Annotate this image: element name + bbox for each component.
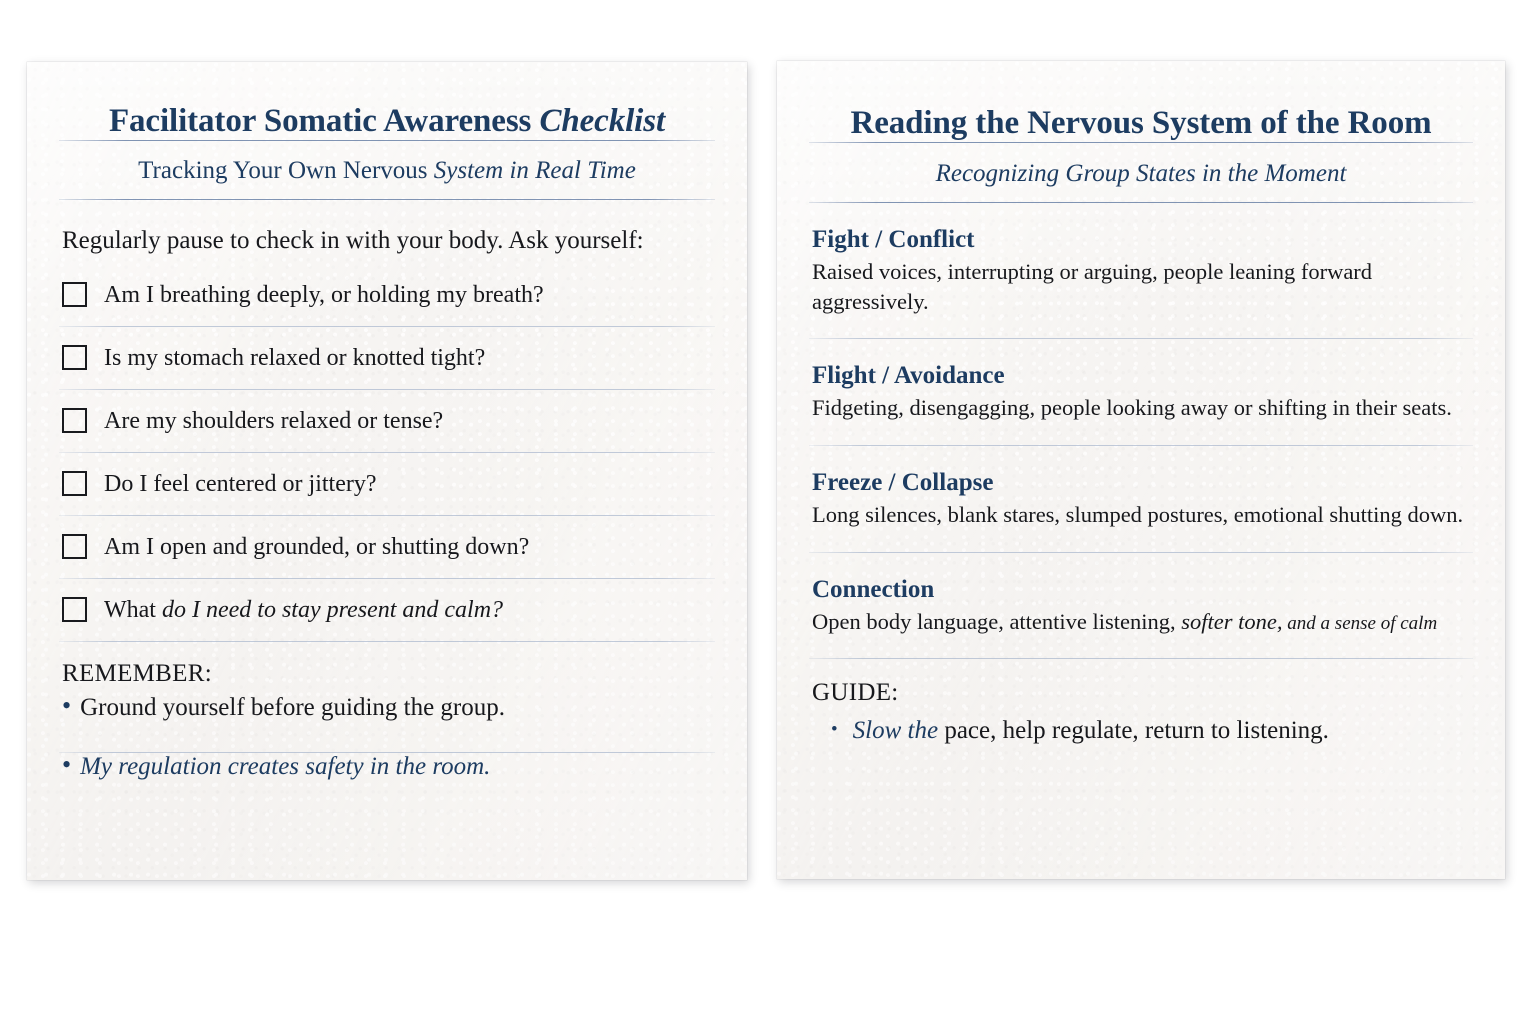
left-card-title: Facilitator Somatic Awareness Checklist [59,62,715,140]
checkbox-icon[interactable] [62,597,87,622]
page-canvas: Facilitator Somatic Awareness Checklist … [0,0,1536,1024]
state-description: Raised voices, interrupting or arguing, … [812,257,1473,338]
remember-item: • Ground yourself before guiding the gro… [59,694,715,752]
card-facilitator-somatic-awareness-checklist: Facilitator Somatic Awareness Checklist … [27,62,747,880]
remember-heading: REMEMBER: [59,642,715,694]
checklist-row[interactable]: Are my shoulders relaxed or tense? [59,390,715,452]
right-card-title: Reading the Nervous System of the Room [809,61,1473,142]
state-block-connection: Connection Open body language, attentive… [809,553,1473,659]
checkbox-icon[interactable] [62,345,87,370]
checklist-label-plain: What [104,597,162,623]
state-description-plain: Open body language, attentive listening, [812,609,1181,634]
checklist-row[interactable]: Do I feel centered or jittery? [59,453,715,515]
state-title: Flight / Avoidance [812,339,1473,393]
bullet-dot-icon: • [62,752,71,778]
guide-item: • Slow the pace, help regulate, return t… [809,717,1473,775]
bullet-dot-icon: • [62,693,71,719]
left-card-subtitle-plain: Tracking Your Own Nervous [138,157,434,184]
checklist-label-italic: do I need to stay present and calm? [162,597,503,623]
card-reading-the-nervous-system-of-the-room: Reading the Nervous System of the Room R… [777,61,1505,879]
left-card-subtitle: Tracking Your Own Nervous System in Real… [59,141,715,199]
right-card-subtitle-italic: Recognizing Group States in the Moment [936,160,1347,187]
left-card-subtitle-italic: System in Real Time [434,157,636,184]
state-block-flight-avoidance: Flight / Avoidance Fidgeting, disengaggi… [809,339,1473,445]
remember-item: • My regulation creates safety in the ro… [59,753,715,811]
right-card-subtitle: Recognizing Group States in the Moment [809,143,1473,202]
remember-item-text: Ground yourself before guiding the group… [80,694,505,722]
bullet-dot-icon: • [831,720,838,739]
checklist-label: Are my shoulders relaxed or tense? [104,408,443,434]
state-description-italic: softer tone, [1181,609,1282,634]
checkbox-icon[interactable] [62,282,87,307]
state-description: Long silences, blank stares, slumped pos… [812,500,1505,552]
checklist-row[interactable]: What do I need to stay present and calm? [59,579,715,641]
checklist-label: Is my stomach relaxed or knotted tight? [104,345,485,371]
state-block-fight-conflict: Fight / Conflict Raised voices, interrup… [809,203,1473,338]
checklist-row[interactable]: Am I open and grounded, or shutting down… [59,516,715,578]
state-title: Freeze / Collapse [812,446,1473,500]
checklist-label: Am I breathing deeply, or holding my bre… [104,282,544,308]
state-description-small-italic: and a sense of calm [1283,613,1438,634]
guide-item-rest: pace, help regulate, return to listening… [938,717,1329,744]
guide-heading: GUIDE: [809,659,1473,717]
state-title: Connection [812,553,1473,607]
state-block-freeze-collapse: Freeze / Collapse Long silences, blank s… [809,446,1473,552]
checkbox-icon[interactable] [62,534,87,559]
guide-item-italic-lead: Slow the [853,717,938,744]
checkbox-icon[interactable] [62,471,87,496]
checklist-label: What do I need to stay present and calm? [104,597,503,623]
state-description: Fidgeting, disengagging, people looking … [812,393,1505,445]
remember-item-text: My regulation creates safety in the room… [80,753,490,781]
left-card-title-plain: Facilitator Somatic Awareness [109,103,540,139]
guide-item-text: Slow the pace, help regulate, return to … [853,717,1329,745]
checkbox-icon[interactable] [62,408,87,433]
checklist-label: Am I open and grounded, or shutting down… [104,534,529,560]
state-title: Fight / Conflict [812,203,1473,257]
checklist-label: Do I feel centered or jittery? [104,471,377,497]
checklist-row[interactable]: Am I breathing deeply, or holding my bre… [59,264,715,326]
checklist-row[interactable]: Is my stomach relaxed or knotted tight? [59,327,715,389]
state-description: Open body language, attentive listening,… [812,607,1505,659]
left-card-title-italic: Checklist [539,103,665,139]
left-lead-text: Regularly pause to check in with your bo… [59,200,715,264]
